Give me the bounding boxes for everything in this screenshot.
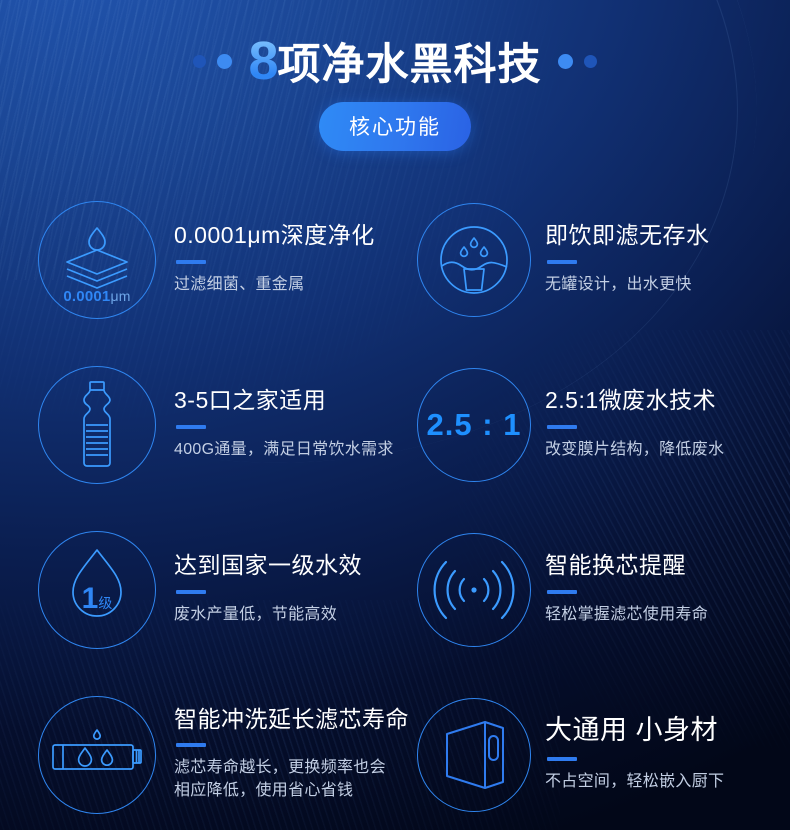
decor-dot-left-inner: [217, 54, 232, 69]
feature-item-7: 智能冲洗延长滤芯寿命 滤芯寿命越长，更换频率也会 相应降低，使用省心省钱: [0, 672, 395, 830]
title-row: 8 项净水黑科技: [0, 34, 790, 88]
signal-waves-icon: [417, 533, 531, 647]
feature-rule-3: [176, 425, 206, 429]
feature-subtitle-1: 过滤细菌、重金属: [174, 273, 375, 296]
feature-text-8: 大通用 小身材 不占空间，轻松嵌入厨下: [545, 716, 724, 793]
feature-item-3: 3-5口之家适用 400G通量，满足日常饮水需求: [0, 342, 395, 507]
feature-rule-4: [547, 425, 577, 429]
feature-grid: 0.0001μm 0.0001μm深度净化 过滤细菌、重金属: [0, 177, 790, 830]
feature-item-2: 即饮即滤无存水 无罐设计，出水更快: [395, 177, 790, 342]
feature-text-7: 智能冲洗延长滤芯寿命 滤芯寿命越长，更换频率也会 相应降低，使用省心省钱: [174, 707, 409, 803]
feature-title-3: 3-5口之家适用: [174, 388, 394, 413]
feature-text-1: 0.0001μm深度净化 过滤细菌、重金属: [174, 223, 375, 295]
feature-rule-7: [176, 743, 206, 747]
decor-dot-left-outer: [193, 55, 206, 68]
feature-title-2: 即饮即滤无存水: [545, 223, 710, 248]
feature-item-6: 智能换芯提醒 轻松掌握滤芯使用寿命: [395, 507, 790, 672]
feature-text-3: 3-5口之家适用 400G通量，满足日常饮水需求: [174, 388, 394, 460]
feature-rule-5: [176, 590, 206, 594]
feature-rule-1: [176, 260, 206, 264]
feature-item-8: 大通用 小身材 不占空间，轻松嵌入厨下: [395, 672, 790, 830]
page-title-number: 8: [248, 34, 277, 88]
feature-rule-6: [547, 590, 577, 594]
feature-title-8: 大通用 小身材: [545, 716, 724, 746]
decor-dot-right-inner: [558, 54, 573, 69]
water-bottle-icon: [38, 366, 156, 484]
poster-root: 8 项净水黑科技 核心功能 0.0001μm: [0, 0, 790, 830]
cabinet-box-icon: [417, 698, 531, 812]
badge-wrap: 核心功能: [0, 102, 790, 151]
feature-title-4: 2.5:1微废水技术: [545, 388, 724, 413]
core-function-badge: 核心功能: [319, 102, 471, 151]
filter-cartridge-icon: [38, 696, 156, 814]
feature-subtitle-3: 400G通量，满足日常饮水需求: [174, 438, 394, 461]
feature-subtitle-7: 滤芯寿命越长，更换频率也会: [174, 756, 409, 779]
filter-layers-caption: 0.0001μm: [39, 289, 155, 304]
poster-header: 8 项净水黑科技 核心功能: [0, 0, 790, 151]
feature-subtitle-7b: 相应降低，使用省心省钱: [174, 779, 409, 802]
ratio-text-icon: 2.5 : 1: [417, 368, 531, 482]
feature-subtitle-5: 废水产量低，节能高效: [174, 603, 362, 626]
feature-title-6: 智能换芯提醒: [545, 553, 708, 578]
feature-subtitle-2: 无罐设计，出水更快: [545, 273, 710, 296]
filter-layers-icon: 0.0001μm: [38, 201, 156, 319]
decor-dot-right-outer: [584, 55, 597, 68]
feature-subtitle-6: 轻松掌握滤芯使用寿命: [545, 603, 708, 626]
feature-text-4: 2.5:1微废水技术 改变膜片结构，降低废水: [545, 388, 724, 460]
feature-item-1: 0.0001μm 0.0001μm深度净化 过滤细菌、重金属: [0, 177, 395, 342]
feature-item-4: 2.5 : 1 2.5:1微废水技术 改变膜片结构，降低废水: [395, 342, 790, 507]
grade-caption: 1级: [39, 584, 155, 614]
feature-text-2: 即饮即滤无存水 无罐设计，出水更快: [545, 223, 710, 295]
water-droplet-grade-icon: 1级: [38, 531, 156, 649]
feature-title-5: 达到国家一级水效: [174, 553, 362, 578]
feature-rule-8: [547, 757, 577, 761]
feature-text-6: 智能换芯提醒 轻松掌握滤芯使用寿命: [545, 553, 708, 625]
page-title-words: 项净水黑科技: [278, 44, 542, 87]
water-glass-icon: [417, 203, 531, 317]
feature-subtitle-8: 不占空间，轻松嵌入厨下: [545, 770, 724, 793]
page-title: 8 项净水黑科技: [248, 34, 541, 88]
feature-rule-2: [547, 260, 577, 264]
feature-title-1: 0.0001μm深度净化: [174, 223, 375, 248]
feature-item-5: 1级 达到国家一级水效 废水产量低，节能高效: [0, 507, 395, 672]
feature-subtitle-4: 改变膜片结构，降低废水: [545, 438, 724, 461]
feature-title-7: 智能冲洗延长滤芯寿命: [174, 707, 409, 732]
feature-text-5: 达到国家一级水效 废水产量低，节能高效: [174, 553, 362, 625]
ratio-value: 2.5 : 1: [427, 409, 522, 440]
